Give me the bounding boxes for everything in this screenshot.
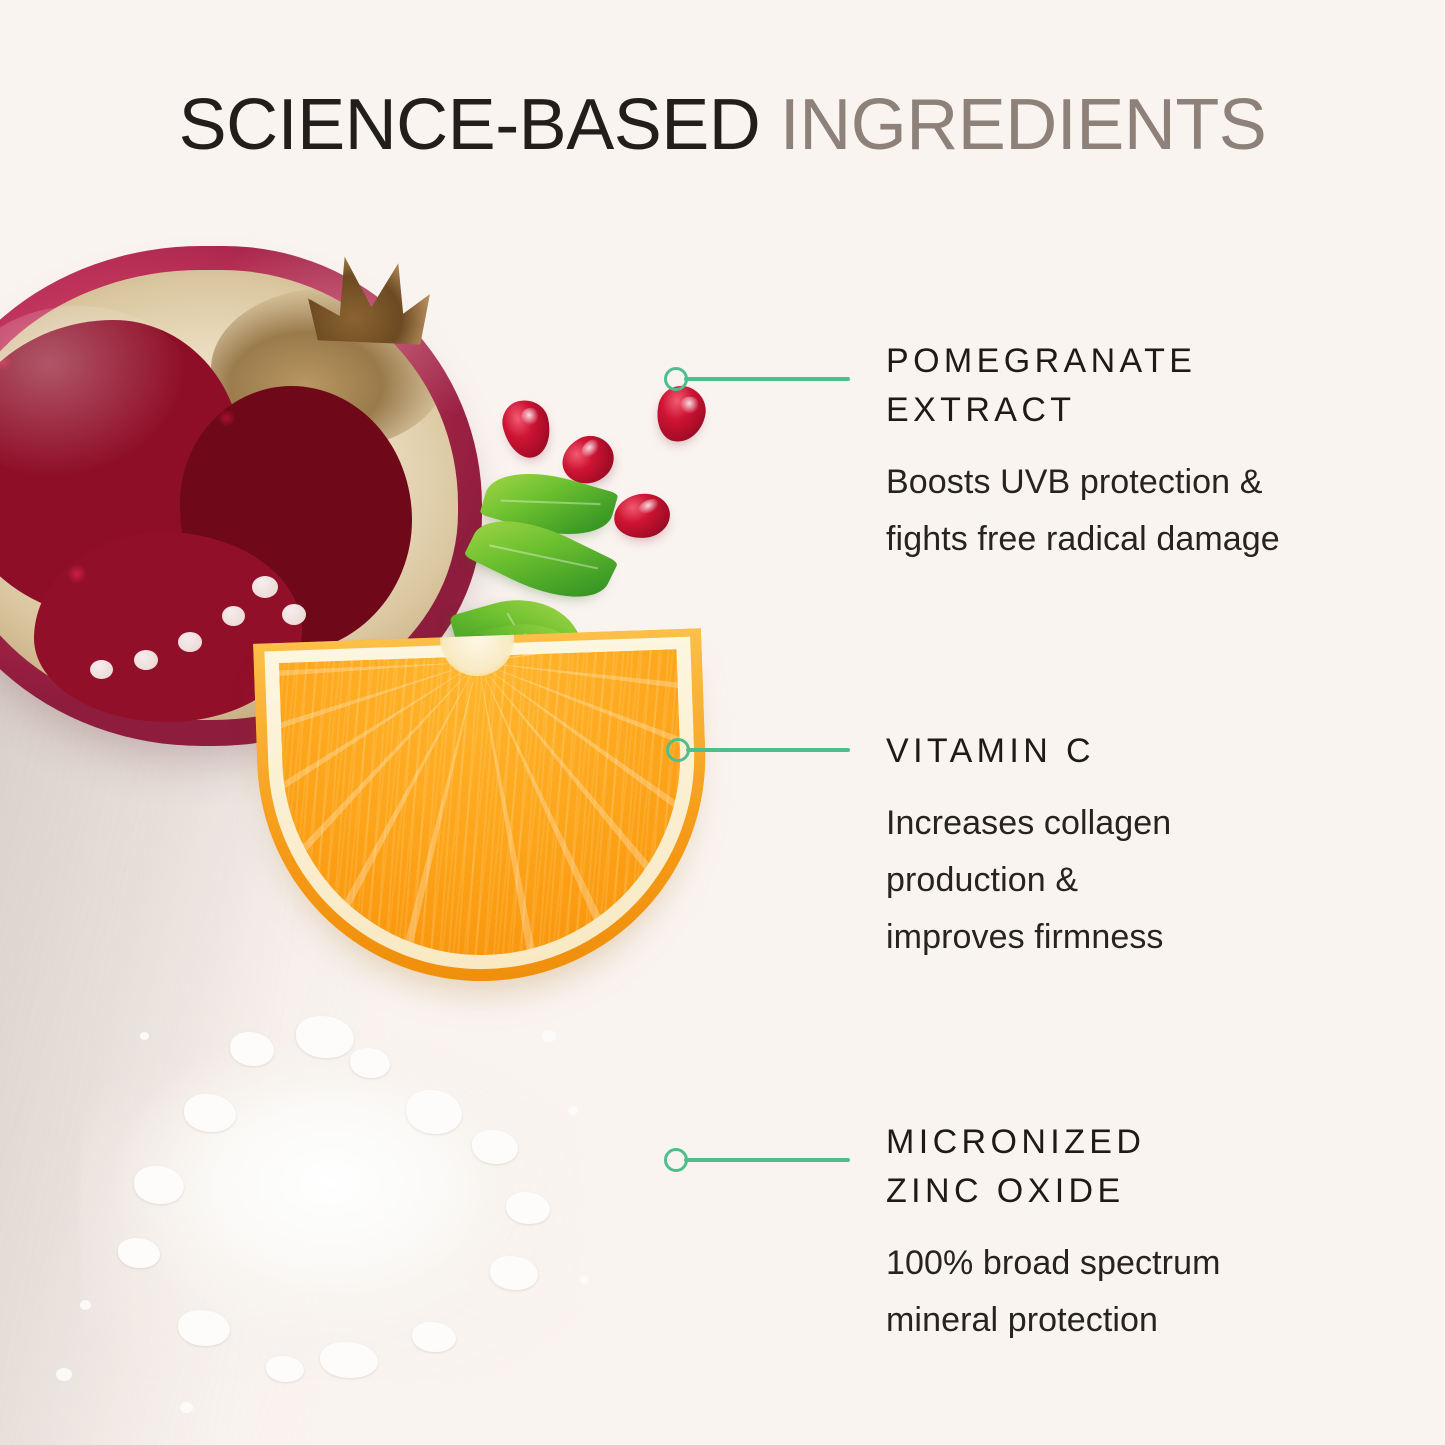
callout-pomegranate-extract: POMEGRANATE EXTRACT Boosts UVB protectio… xyxy=(886,337,1406,568)
powder-grain xyxy=(472,1130,518,1164)
callout-body: Boosts UVB protection & fights free radi… xyxy=(886,454,1406,568)
powder-grain xyxy=(506,1192,550,1224)
ingredients-infographic: SCIENCE-BASED INGREDIENTS POMEGRANATE EX… xyxy=(0,0,1445,1445)
callout-micronized-zinc-oxide: MICRONIZED ZINC OXIDE 100% broad spectru… xyxy=(886,1118,1406,1349)
page-title-primary: SCIENCE-BASED xyxy=(179,85,761,165)
powder-speck xyxy=(542,1030,556,1042)
page-title: SCIENCE-BASED INGREDIENTS xyxy=(0,86,1445,164)
powder-grain xyxy=(178,1310,230,1346)
pomegranate-seed xyxy=(652,382,711,447)
callout-body: Increases collagen production & improves… xyxy=(886,795,1406,966)
callout-heading: MICRONIZED ZINC OXIDE xyxy=(886,1118,1406,1216)
powder-grain xyxy=(118,1238,160,1268)
pomegranate-pith-pearl xyxy=(222,606,245,626)
zinc-oxide-powder-image xyxy=(20,970,660,1430)
powder-speck xyxy=(140,1032,149,1040)
powder-speck xyxy=(80,1300,91,1310)
powder-grain xyxy=(490,1256,538,1290)
orange-flesh xyxy=(279,649,687,962)
callout-heading: VITAMIN C xyxy=(886,727,1406,776)
powder-speck xyxy=(180,1402,193,1413)
pomegranate-pith-pearl xyxy=(134,650,158,670)
powder-speck xyxy=(56,1368,72,1381)
callout-body: 100% broad spectrum mineral protection xyxy=(886,1235,1406,1349)
powder-grain xyxy=(230,1032,274,1066)
pomegranate-seed xyxy=(611,490,673,541)
pomegranate-pith-pearl xyxy=(90,660,113,679)
powder-grain xyxy=(320,1342,378,1378)
callout-heading: POMEGRANATE EXTRACT xyxy=(886,337,1406,435)
pomegranate-seed xyxy=(498,395,557,462)
page-title-secondary: INGREDIENTS xyxy=(760,85,1266,165)
pomegranate-pith-pearl xyxy=(178,632,202,652)
powder-grain xyxy=(412,1322,456,1352)
powder-grain xyxy=(350,1048,390,1078)
powder-grain xyxy=(266,1356,304,1382)
powder-speck xyxy=(580,1276,589,1284)
callout-vitamin-c: VITAMIN C Increases collagen production … xyxy=(886,727,1406,966)
pomegranate-pith-pearl xyxy=(252,576,278,598)
pomegranate-pith-pearl xyxy=(282,604,306,625)
orange-slice-image xyxy=(253,628,713,988)
powder-speck xyxy=(568,1106,578,1115)
